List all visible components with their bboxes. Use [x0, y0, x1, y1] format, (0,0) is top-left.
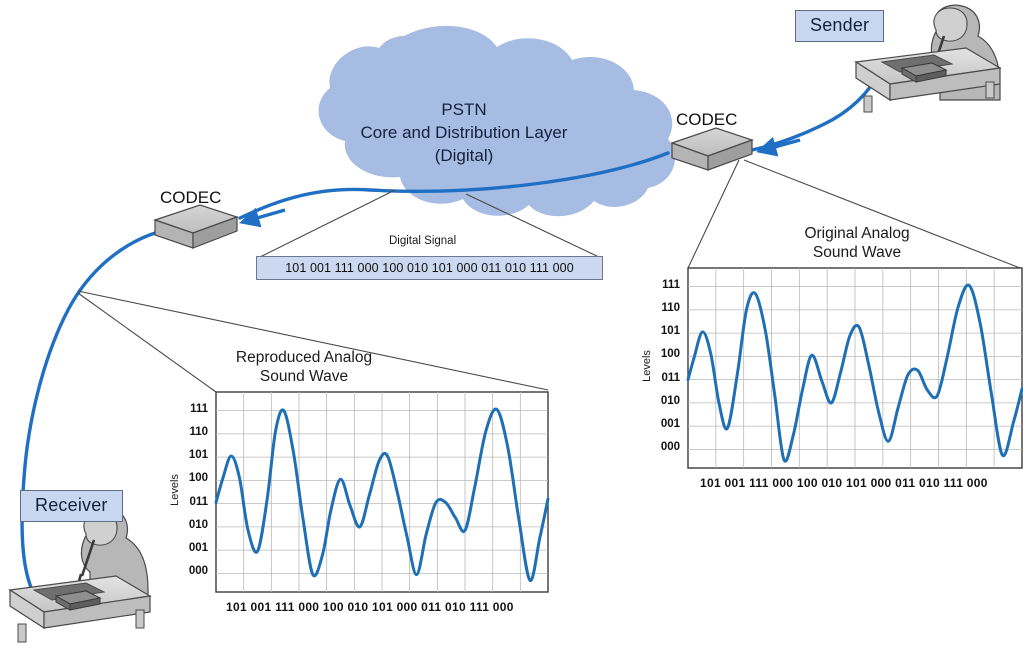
chart-ytick: 111 — [650, 279, 680, 291]
chart-original-analog — [688, 268, 1022, 468]
chart-ytick: 010 — [650, 395, 680, 407]
chart-ytick: 110 — [650, 302, 680, 314]
chart-ytick: 101 — [650, 325, 680, 337]
chart-reproduced-analog — [216, 392, 548, 592]
cloud-line-3: (Digital) — [330, 144, 598, 167]
chart-ytick: 001 — [178, 542, 208, 554]
codec-left-device[interactable] — [155, 205, 237, 248]
chart-title-reproduced: Reproduced Analog Sound Wave — [196, 348, 412, 386]
chart-ytick: 111 — [178, 403, 208, 415]
chart-ytick: 100 — [650, 348, 680, 360]
chart-title-original: Original Analog Sound Wave — [752, 224, 962, 262]
chart-ytick: 110 — [178, 426, 208, 438]
chart-ytick: 010 — [178, 519, 208, 531]
sender-label-box[interactable]: Sender — [795, 10, 884, 42]
receiver-label-box[interactable]: Receiver — [20, 490, 123, 522]
chart-ytick: 101 — [178, 449, 208, 461]
chart-ytick: 100 — [178, 472, 208, 484]
chart-xticks-reproduced: 101 001 111 000 100 010 101 000 011 010 … — [226, 600, 514, 614]
codec-right-label: CODEC — [676, 110, 737, 130]
chart-ytick: 011 — [178, 496, 208, 508]
digital-signal-bits: 101 001 111 000 100 010 101 000 011 010 … — [256, 256, 603, 280]
diagram-canvas: PSTN Core and Distribution Layer (Digita… — [0, 0, 1023, 656]
chart-ylabel-original: Levels — [641, 336, 653, 396]
receiver-workstation — [10, 507, 150, 642]
chart-ytick: 001 — [650, 418, 680, 430]
cloud-line-1: PSTN — [330, 98, 598, 121]
chart-ylabel-reproduced: Levels — [169, 460, 181, 520]
chart-ytick: 000 — [650, 441, 680, 453]
chart-ytick: 000 — [178, 565, 208, 577]
cloud-label: PSTN Core and Distribution Layer (Digita… — [330, 98, 598, 167]
codec-right-device[interactable] — [672, 128, 752, 170]
cloud-line-2: Core and Distribution Layer — [330, 121, 598, 144]
codec-left-label: CODEC — [160, 188, 221, 208]
chart-xticks-original: 101 001 111 000 100 010 101 000 011 010 … — [700, 476, 988, 490]
digital-signal-title: Digital Signal — [389, 235, 456, 247]
chart-ytick: 011 — [650, 372, 680, 384]
